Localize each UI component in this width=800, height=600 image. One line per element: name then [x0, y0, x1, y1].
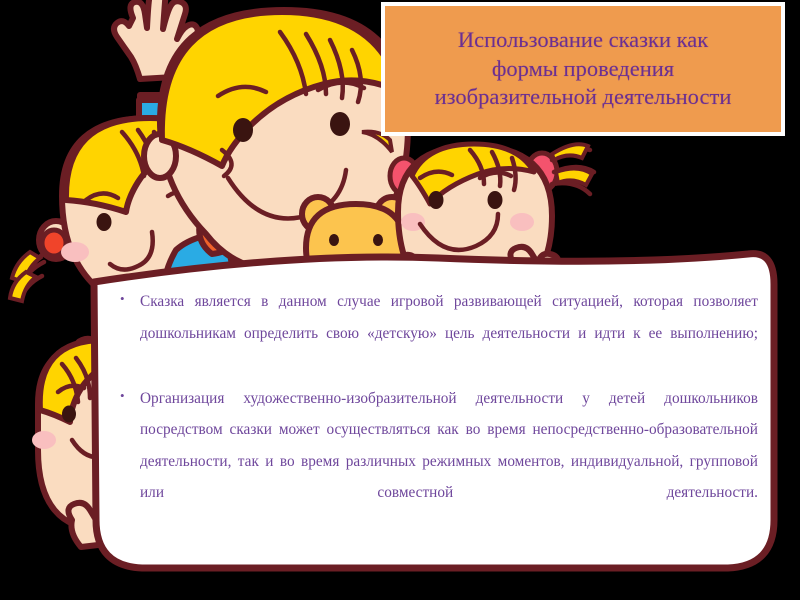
bullet-text: Организация художественно-изобразительно…	[140, 383, 758, 541]
bullet-item: • Организация художественно-изобразитель…	[118, 383, 758, 541]
bullet-marker: •	[118, 286, 140, 313]
title-box-inner: Использование сказки как формы проведени…	[385, 6, 781, 132]
page-title: Использование сказки как формы проведени…	[435, 26, 732, 112]
slide-canvas: .ol{stroke:#6b1e24;stroke-width:6;stroke…	[0, 0, 800, 600]
title-box: Использование сказки как формы проведени…	[381, 2, 785, 136]
raised-hand-arm	[114, 0, 198, 190]
girl-right-hair-spray	[552, 144, 594, 194]
bullet-marker: •	[118, 383, 140, 410]
bullet-text: Сказка является в данном случае игровой …	[140, 286, 758, 381]
bullet-item: • Сказка является в данном случае игрово…	[118, 286, 758, 381]
content-banner: • Сказка является в данном случае игрово…	[88, 248, 778, 573]
girl-left-braid	[10, 250, 48, 301]
banner-text-content: • Сказка является в данном случае игрово…	[118, 286, 758, 542]
